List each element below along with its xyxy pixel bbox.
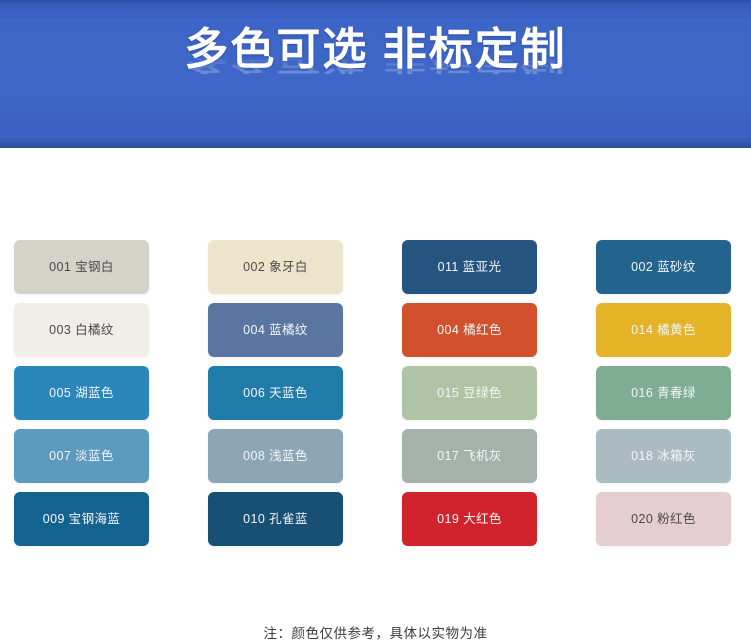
color-swatch[interactable]: 018 冰箱灰	[596, 429, 731, 483]
color-swatch[interactable]: 014 橘黄色	[596, 303, 731, 357]
color-swatch[interactable]: 011 蓝亚光	[402, 240, 537, 294]
swatch-label: 015 豆绿色	[437, 387, 502, 400]
swatch-label: 010 孔雀蓝	[243, 513, 308, 526]
color-swatch[interactable]: 019 大红色	[402, 492, 537, 546]
color-swatch[interactable]: 005 湖蓝色	[14, 366, 149, 420]
banner-text-group: 多色可选 非标定制 多色可选 非标定制	[0, 28, 751, 118]
swatch-label: 003 白橘纹	[49, 324, 114, 337]
swatch-label: 009 宝钢海蓝	[43, 513, 121, 526]
swatch-label: 018 冰箱灰	[631, 450, 696, 463]
color-swatch[interactable]: 003 白橘纹	[14, 303, 149, 357]
color-swatch[interactable]: 015 豆绿色	[402, 366, 537, 420]
swatch-label: 007 淡蓝色	[49, 450, 114, 463]
title-reflection: 多色可选 非标定制	[0, 50, 751, 74]
swatch-label: 004 橘红色	[437, 324, 502, 337]
swatch-label: 014 橘黄色	[631, 324, 696, 337]
disclaimer-note: 注：颜色仅供参考，具体以实物为准	[0, 622, 751, 641]
swatch-label: 019 大红色	[437, 513, 502, 526]
swatch-label: 020 粉红色	[631, 513, 696, 526]
swatch-label: 006 天蓝色	[243, 387, 308, 400]
color-swatch[interactable]: 006 天蓝色	[208, 366, 343, 420]
color-swatch[interactable]: 020 粉红色	[596, 492, 731, 546]
header-banner: 多色可选 非标定制 多色可选 非标定制	[0, 0, 751, 148]
swatch-label: 001 宝钢白	[49, 261, 114, 274]
color-swatch[interactable]: 004 橘红色	[402, 303, 537, 357]
color-swatch[interactable]: 007 淡蓝色	[14, 429, 149, 483]
color-options-page: 多色可选 非标定制 多色可选 非标定制 001 宝钢白 002 象牙白 011 …	[0, 0, 751, 637]
color-swatch[interactable]: 016 青春绿	[596, 366, 731, 420]
swatch-area: 001 宝钢白 002 象牙白 011 蓝亚光 002 蓝砂纹 003 白橘纹 …	[0, 148, 751, 637]
swatch-label: 017 飞机灰	[437, 450, 502, 463]
swatch-label: 002 象牙白	[243, 261, 308, 274]
color-swatch[interactable]: 009 宝钢海蓝	[14, 492, 149, 546]
swatch-label: 011 蓝亚光	[438, 261, 502, 274]
color-swatch-grid: 001 宝钢白 002 象牙白 011 蓝亚光 002 蓝砂纹 003 白橘纹 …	[14, 240, 737, 546]
swatch-label: 002 蓝砂纹	[631, 261, 696, 274]
swatch-label: 008 浅蓝色	[243, 450, 308, 463]
swatch-label: 005 湖蓝色	[49, 387, 114, 400]
color-swatch[interactable]: 017 飞机灰	[402, 429, 537, 483]
color-swatch[interactable]: 002 象牙白	[208, 240, 343, 294]
color-swatch[interactable]: 010 孔雀蓝	[208, 492, 343, 546]
color-swatch[interactable]: 001 宝钢白	[14, 240, 149, 294]
swatch-label: 004 蓝橘纹	[243, 324, 308, 337]
swatch-label: 016 青春绿	[631, 387, 696, 400]
color-swatch[interactable]: 008 浅蓝色	[208, 429, 343, 483]
color-swatch[interactable]: 004 蓝橘纹	[208, 303, 343, 357]
color-swatch[interactable]: 002 蓝砂纹	[596, 240, 731, 294]
